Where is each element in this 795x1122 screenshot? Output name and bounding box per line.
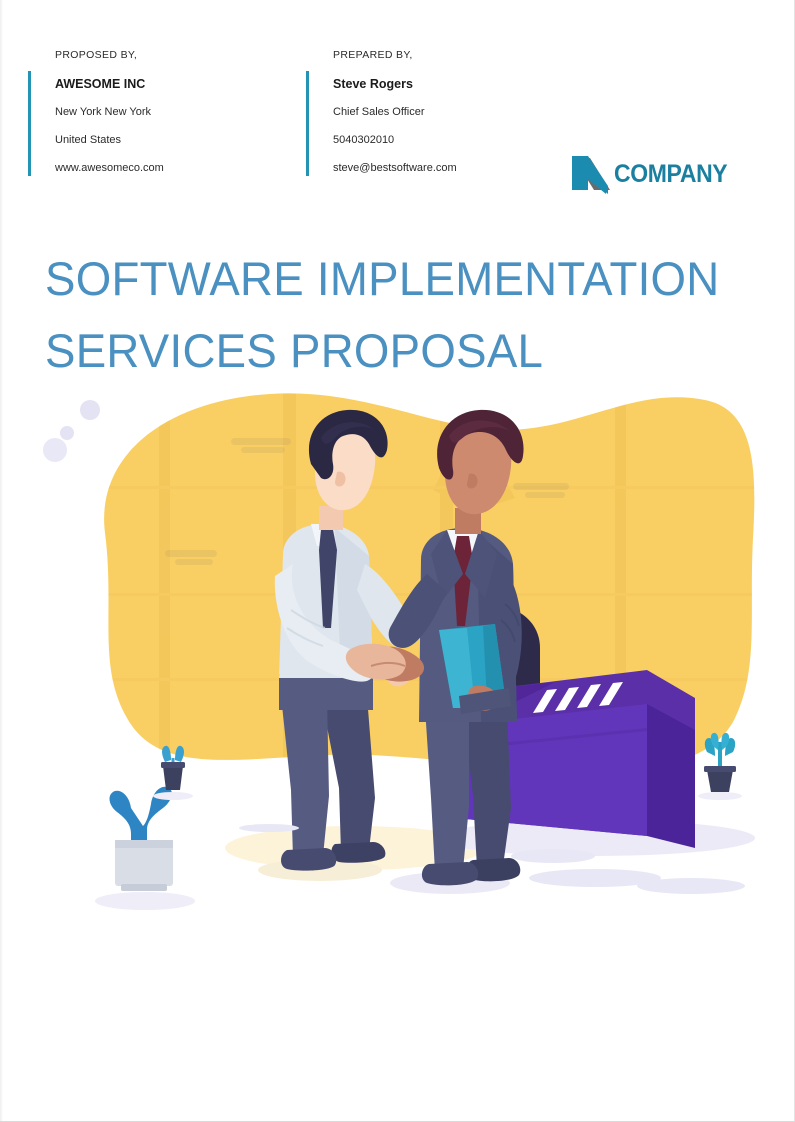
proposed-by-website[interactable]: www.awesomeco.com	[55, 163, 305, 174]
proposal-cover-page: PROPOSED BY, AWESOME INC New York New Yo…	[0, 0, 795, 1122]
proposed-by-country: United States	[55, 135, 305, 146]
proposed-by-block: PROPOSED BY, AWESOME INC New York New Yo…	[55, 50, 305, 174]
accent-circle	[60, 426, 74, 440]
proposed-by-city-state: New York New York	[55, 107, 305, 118]
prepared-by-accent-bar	[306, 71, 309, 176]
proposed-by-company: AWESOME INC	[55, 78, 305, 91]
accent-circle	[80, 400, 100, 420]
header: PROPOSED BY, AWESOME INC New York New Yo…	[0, 50, 795, 180]
prepared-by-kicker: PREPARED BY,	[333, 50, 583, 61]
accent-circle	[43, 438, 67, 462]
page-title: SOFTWARE IMPLEMENTATION SERVICES PROPOSA…	[45, 243, 745, 387]
page-title-line-1: SOFTWARE IMPLEMENTATION	[45, 243, 724, 315]
prepared-by-block: PREPARED BY, Steve Rogers Chief Sales Of…	[333, 50, 583, 174]
proposed-by-kicker: PROPOSED BY,	[55, 50, 305, 61]
company-logo-text: COMPANY	[614, 162, 727, 187]
diagonal-slash-logo-icon	[568, 150, 610, 198]
prepared-by-email[interactable]: steve@bestsoftware.com	[333, 163, 583, 174]
prepared-by-phone[interactable]: 5040302010	[333, 135, 583, 146]
page-title-line-2: SERVICES PROPOSAL	[45, 315, 724, 387]
prepared-by-name: Steve Rogers	[333, 78, 583, 91]
company-logo: COMPANY	[568, 149, 713, 199]
business-handshake-illustration	[35, 378, 765, 938]
prepared-by-role: Chief Sales Officer	[333, 107, 583, 118]
proposed-by-accent-bar	[28, 71, 31, 176]
